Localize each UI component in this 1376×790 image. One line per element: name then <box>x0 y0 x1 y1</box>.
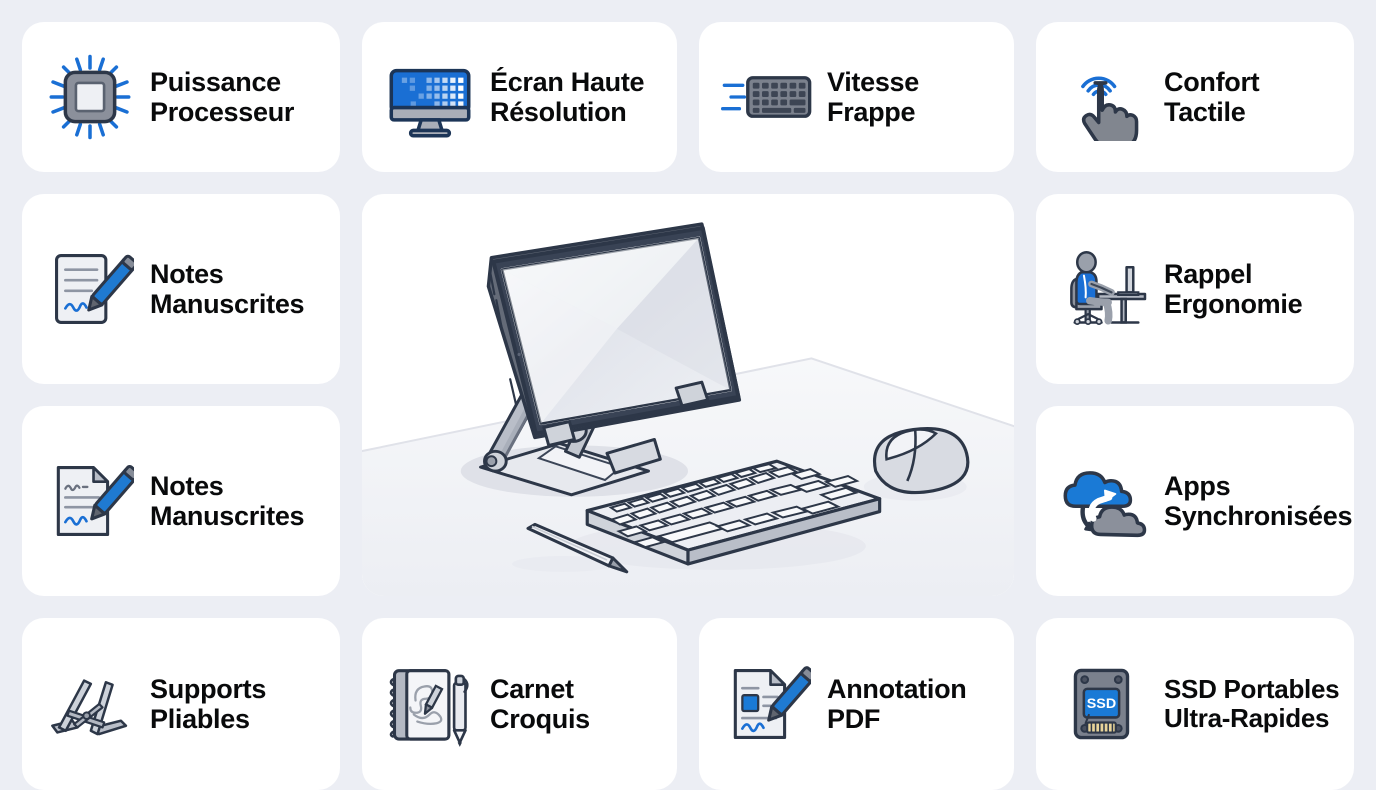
card-label: Puissance Processeur <box>150 67 294 128</box>
hero-svg <box>362 194 1014 596</box>
ergonomic-sitting-icon <box>1058 243 1150 335</box>
touch-hand-icon <box>1058 51 1150 143</box>
card-label: Supports Pliables <box>150 674 266 735</box>
sketchbook-pen-icon <box>384 658 476 750</box>
monitor-icon <box>384 51 476 143</box>
note-handwriting-icon <box>44 455 136 547</box>
card-label: Notes Manuscrites <box>150 471 304 532</box>
card-label: Carnet Croquis <box>490 674 590 735</box>
svg-text:SSD: SSD <box>1087 696 1116 712</box>
feature-card-grid: Puissance Processeur <box>0 0 1376 768</box>
card-rappel-ergonomie[interactable]: Rappel Ergonomie <box>1036 194 1354 384</box>
card-label: Vitesse Frappe <box>827 67 919 128</box>
card-confort-tactile[interactable]: Confort Tactile <box>1036 22 1354 172</box>
card-carnet-croquis[interactable]: Carnet Croquis <box>362 618 677 790</box>
card-label: Écran Haute Résolution <box>490 67 644 128</box>
card-apps-synchronisees[interactable]: Apps Synchronisées <box>1036 406 1354 596</box>
card-notes-manuscrites-1[interactable]: Notes Manuscrites <box>22 194 340 384</box>
card-label: Rappel Ergonomie <box>1164 259 1302 320</box>
card-label: Confort Tactile <box>1164 67 1259 128</box>
tablet-desk-setup-illustration <box>362 194 1014 596</box>
card-ssd-portables[interactable]: SSD SSD Portables Ultra-Rapides <box>1036 618 1354 790</box>
folding-stand-icon <box>44 658 136 750</box>
pdf-annotate-icon <box>721 658 813 750</box>
card-supports-pliables[interactable]: Supports Pliables <box>22 618 340 790</box>
keyboard-speed-icon <box>721 51 813 143</box>
ssd-drive-icon: SSD <box>1058 658 1150 750</box>
card-label: Notes Manuscrites <box>150 259 304 320</box>
card-notes-manuscrites-2[interactable]: Notes Manuscrites <box>22 406 340 596</box>
card-puissance-processeur[interactable]: Puissance Processeur <box>22 22 340 172</box>
card-annotation-pdf[interactable]: Annotation PDF <box>699 618 1014 790</box>
card-ecran-haute-resolution[interactable]: Écran Haute Résolution <box>362 22 677 172</box>
card-label: SSD Portables Ultra-Rapides <box>1164 675 1339 734</box>
card-vitesse-frappe[interactable]: Vitesse Frappe <box>699 22 1014 172</box>
cloud-sync-icon <box>1058 455 1150 547</box>
cpu-chip-icon <box>44 51 136 143</box>
note-pen-icon <box>44 243 136 335</box>
card-label: Apps Synchronisées <box>1164 471 1352 532</box>
card-label: Annotation PDF <box>827 674 966 735</box>
